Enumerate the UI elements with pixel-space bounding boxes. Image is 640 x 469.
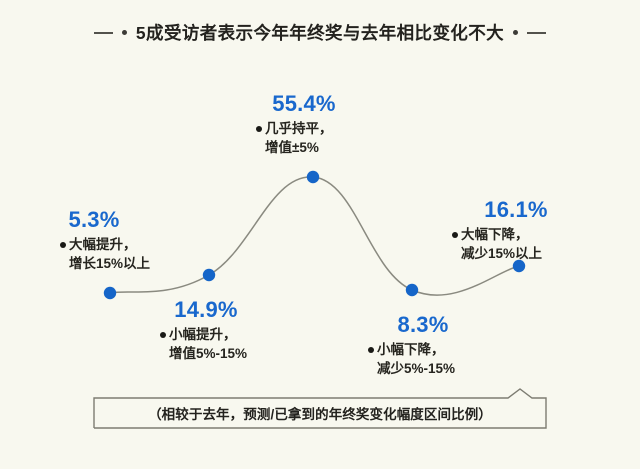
data-label-value-1: 14.9% xyxy=(160,298,252,322)
data-label-2: 55.4% 几乎持平， 增值±5% xyxy=(256,92,352,158)
data-label-desc-0: 大幅提升， 增长15%以上 xyxy=(60,235,150,273)
data-point-0[interactable] xyxy=(104,287,116,299)
footnote-callout: （相较于去年，预测/已拿到的年终奖变化幅度区间比例） xyxy=(93,398,547,428)
bullet-dot-icon xyxy=(256,126,262,132)
data-label-3: 8.3% 小幅下降， 减少5%-15% xyxy=(368,313,466,379)
desc-line-2: 增值±5% xyxy=(256,138,352,157)
desc-line-1: 几乎持平， xyxy=(265,121,333,136)
bullet-dot-icon xyxy=(160,332,166,338)
data-label-desc-4: 大幅下降， 减少15%以上 xyxy=(452,225,564,263)
footnote-text: （相较于去年，预测/已拿到的年终奖变化幅度区间比例） xyxy=(93,398,547,428)
data-label-value-4: 16.1% xyxy=(452,198,564,222)
data-point-3[interactable] xyxy=(406,284,418,296)
data-label-value-0: 5.3% xyxy=(60,208,128,232)
desc-line-1: 小幅提升， xyxy=(169,327,237,342)
data-point-2[interactable] xyxy=(307,171,319,183)
bullet-dot-icon xyxy=(452,232,458,238)
data-label-0: 5.3% 大幅提升， 增长15%以上 xyxy=(60,208,150,274)
data-label-value-2: 55.4% xyxy=(256,92,352,116)
data-label-desc-3: 小幅下降， 减少5%-15% xyxy=(368,340,466,378)
data-label-desc-2: 几乎持平， 增值±5% xyxy=(256,119,352,157)
data-label-value-3: 8.3% xyxy=(368,313,466,337)
data-label-desc-1: 小幅提升， 增值5%-15% xyxy=(160,325,252,363)
desc-line-2: 减少15%以上 xyxy=(452,244,564,263)
bullet-dot-icon xyxy=(368,347,374,353)
data-label-4: 16.1% 大幅下降， 减少15%以上 xyxy=(452,198,564,264)
desc-line-2: 增长15%以上 xyxy=(60,254,150,273)
bullet-dot-icon xyxy=(60,242,66,248)
chart-container: 5成受访者表示今年年终奖与去年相比变化不大 5.3% 大幅提升， 增长15%以上… xyxy=(0,0,640,469)
desc-line-1: 大幅提升， xyxy=(69,237,137,252)
data-point-1[interactable] xyxy=(203,269,215,281)
desc-line-2: 减少5%-15% xyxy=(368,359,466,378)
desc-line-1: 小幅下降， xyxy=(377,342,445,357)
desc-line-2: 增值5%-15% xyxy=(160,344,252,363)
desc-line-1: 大幅下降， xyxy=(461,227,529,242)
data-label-1: 14.9% 小幅提升， 增值5%-15% xyxy=(160,298,252,364)
